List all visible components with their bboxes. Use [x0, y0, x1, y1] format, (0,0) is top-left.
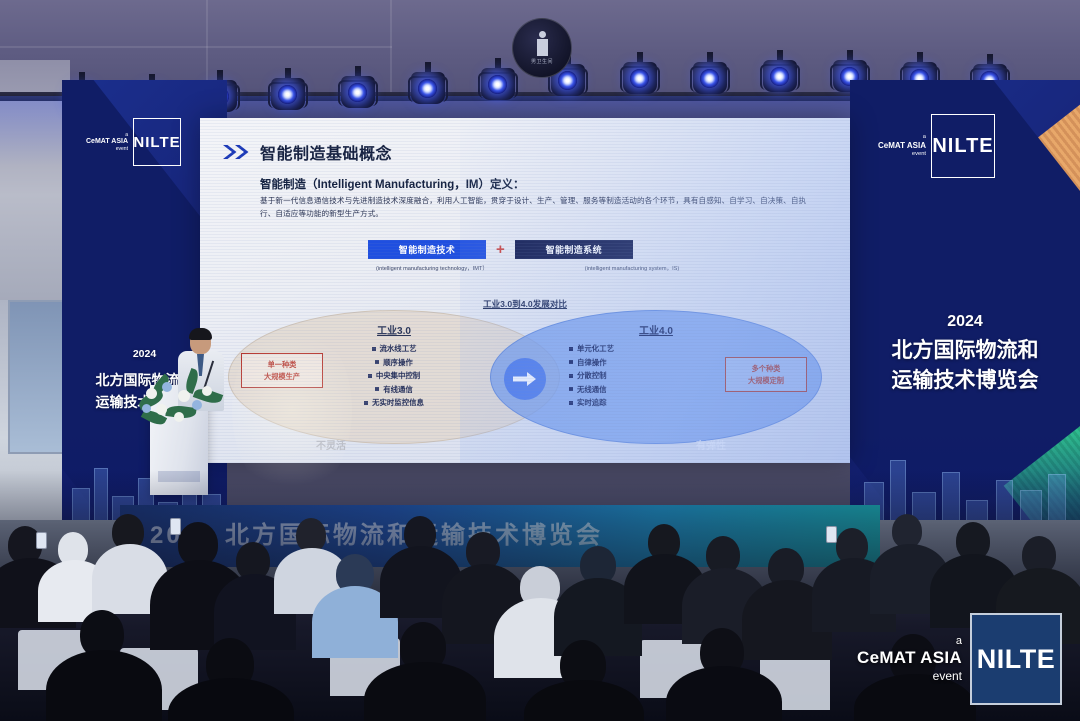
bullet-label: 分散控制 [577, 370, 607, 381]
bullet-label: 单元化工艺 [577, 343, 614, 354]
bullet-square-icon [375, 360, 379, 364]
stage-light-icon [760, 58, 800, 102]
phone-screen [36, 532, 47, 549]
logo-cemat-label: CeMAT ASIA [878, 141, 926, 151]
watermark-cemat-label: CeMAT ASIA [857, 648, 962, 668]
double-chevron-right-icon [222, 144, 252, 160]
stage-light-icon [620, 60, 660, 104]
bullet-square-icon [368, 374, 372, 378]
audience-shoulders [524, 680, 644, 721]
equation-captions: (intelligent manufacturing technology，IM… [352, 264, 712, 272]
bullet-label: 有线通信 [383, 384, 413, 395]
banner-right-year: 2024 [850, 312, 1080, 332]
venn-left-tag: 单一种类 大规模生产 [241, 353, 323, 388]
audience-head [892, 514, 922, 548]
bullet-square-icon [569, 360, 573, 364]
watermark-a-label: a [857, 635, 962, 648]
equation-left-box: 智能制造技术 [368, 240, 486, 259]
venn-title: 工业3.0到4.0发展对比 [200, 298, 850, 310]
stage-light-icon [478, 66, 518, 110]
equation-row: 智能制造技术 + 智能制造系统 [368, 240, 633, 259]
definition-heading: 智能制造（Intelligent Manufacturing，IM）定义： [260, 176, 525, 192]
banner-right-line2: 运输技术博览会 [850, 368, 1080, 395]
flower-arrangement [136, 370, 228, 432]
stage-light-icon [338, 74, 378, 118]
bullet-label: 实时追踪 [577, 397, 607, 408]
banner-left-logo: a CeMAT ASIA event NILTE [86, 118, 181, 166]
list-item: 流水线工艺 [372, 343, 417, 354]
equation-left-caption: (intelligent manufacturing technology，IM… [352, 264, 512, 272]
list-item: 实时追踪 [569, 397, 607, 408]
bullet-label: 流水线工艺 [380, 343, 417, 354]
list-item: 无线通信 [569, 384, 607, 395]
bullet-label: 无线通信 [577, 384, 607, 395]
bullet-square-icon [375, 387, 379, 391]
slide-header: 智能制造基础概念 [222, 140, 392, 164]
watermark-event-label: event [857, 669, 962, 683]
equation-right-box: 智能制造系统 [515, 240, 633, 259]
venn-left-tag-line1: 单一种类 [244, 359, 320, 371]
phone-screen [826, 526, 837, 543]
transition-arrow-icon [504, 358, 546, 400]
bullet-square-icon [569, 401, 573, 405]
restroom-sign-label: 男卫生间 [531, 58, 553, 65]
definition-body: 基于新一代信息通信技术与先进制造技术深度融合，利用人工智能，贯穿于设计、生产、管… [260, 194, 820, 221]
stage-light-icon [408, 70, 448, 114]
wall-seam [0, 46, 392, 48]
person-icon [539, 31, 546, 38]
list-item: 顺序操作 [375, 357, 413, 368]
audience-head [296, 518, 326, 552]
venn-left-tag-line2: 大规模生产 [244, 371, 320, 383]
banner-right-line1: 北方国际物流和 [850, 338, 1080, 365]
stage-light-icon [690, 60, 730, 104]
restroom-sign: 男卫生间 [512, 18, 572, 78]
bullet-square-icon [364, 401, 368, 405]
venn-right-heading: 工业4.0 [491, 322, 821, 337]
nilte-logo-box: NILTE [931, 114, 995, 178]
list-item: 有线通信 [375, 384, 413, 395]
wall-seam [390, 0, 392, 92]
list-item: 分散控制 [569, 370, 607, 381]
equation-right-caption: (intelligent manufacturing system，IS) [552, 264, 712, 272]
bullet-label: 无实时监控信息 [372, 397, 424, 408]
venn-right-footer: 有弹性 [696, 437, 726, 452]
logo-a-label: a [878, 134, 926, 141]
bullet-label: 顺序操作 [383, 357, 413, 368]
bullet-square-icon [569, 374, 573, 378]
bullet-square-icon [372, 347, 376, 351]
hall-door [8, 300, 70, 454]
conference-photo-scene: 男卫生间 a CeMAT ASIA event NILTE 2024 北方国际物… [0, 0, 1080, 721]
venn-left-footer: 不灵活 [316, 437, 346, 452]
list-item: 自律操作 [569, 357, 607, 368]
nilte-logo-box: NILTE [133, 118, 181, 166]
bullet-label: 自律操作 [577, 357, 607, 368]
slide-title: 智能制造基础概念 [260, 140, 392, 164]
venn-right-tag-line2: 大规模定制 [728, 375, 804, 387]
venn-right-tag-line1: 多个种类 [728, 363, 804, 375]
plus-icon: + [496, 242, 505, 257]
venn-right-tag: 多个种类 大规模定制 [725, 357, 807, 392]
logo-event-label: event [878, 151, 926, 158]
logo-cemat-label: CeMAT ASIA [86, 138, 128, 147]
list-item: 无实时监控信息 [364, 397, 424, 408]
list-item: 中央集中控制 [368, 370, 420, 381]
nilte-watermark: a CeMAT ASIA event NILTE [857, 613, 1062, 705]
venn-diagram: 工业3.0 流水线工艺 顺序操作 中央集中控制 有线通信 无实时监控信息 单一种… [228, 310, 822, 450]
banner-right-logo: a CeMAT ASIA event NILTE [878, 114, 995, 178]
phone-screen [170, 518, 181, 535]
projection-screen: 智能制造基础概念 智能制造（Intelligent Manufacturing，… [200, 118, 850, 463]
bullet-square-icon [569, 347, 573, 351]
bullet-label: 中央集中控制 [376, 370, 420, 381]
list-item: 单元化工艺 [569, 343, 614, 354]
stage-light-icon [268, 76, 308, 120]
watermark-nilte-box: NILTE [970, 613, 1062, 705]
bullet-square-icon [569, 387, 573, 391]
logo-event-label: event [86, 146, 128, 152]
person-icon-body [537, 39, 548, 56]
audience-shoulders [46, 650, 162, 721]
